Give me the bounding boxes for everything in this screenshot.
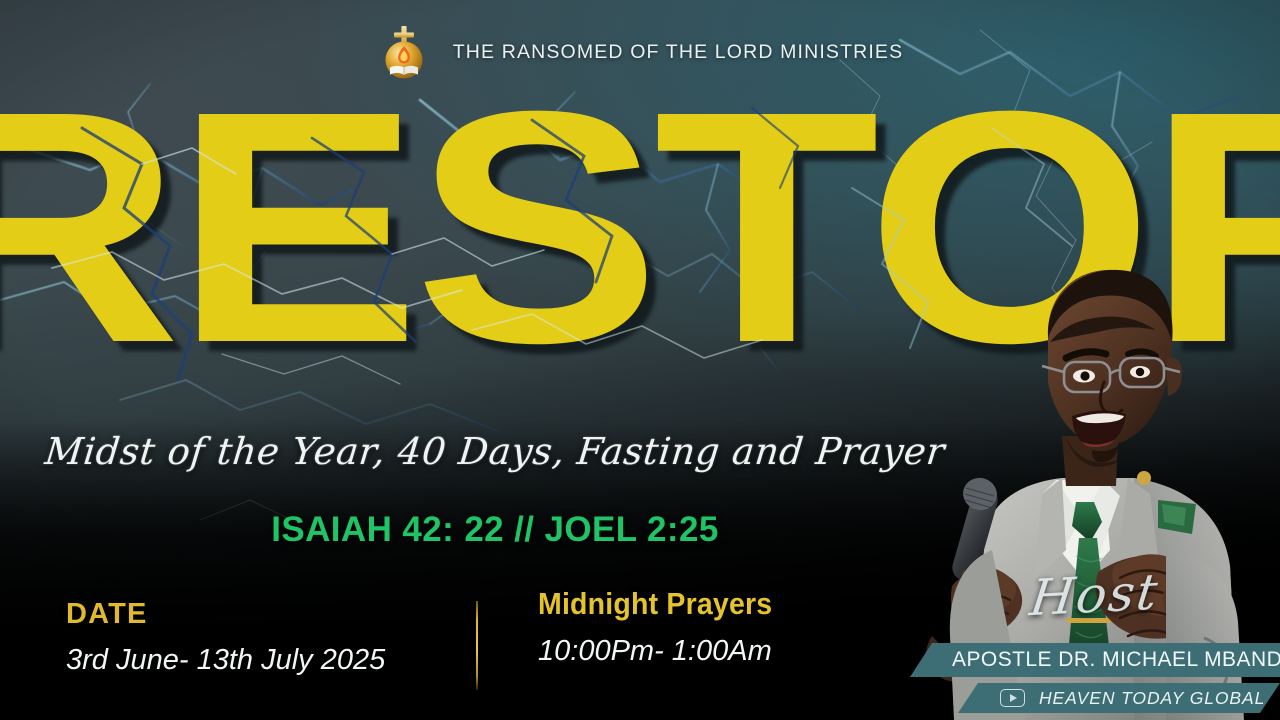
- cross-flame-book-logo-icon: [377, 24, 431, 80]
- host-script-label: Host: [1026, 563, 1162, 628]
- main-title: RESTORE: [0, 68, 1280, 386]
- organization-name: THE RANSOMED OF THE LORD MINISTRIES: [453, 41, 904, 64]
- date-label: DATE: [66, 598, 385, 631]
- time-block: Midnight Prayers 10:00Pm- 1:00Am: [538, 586, 793, 668]
- flyer-header: THE RANSOMED OF THE LORD MINISTRIES: [0, 24, 1280, 80]
- host-name: APOSTLE DR. MICHAEL MBAND: [952, 648, 1280, 672]
- host-channel-banner[interactable]: HEAVEN TODAY GLOBAL: [958, 683, 1280, 713]
- vertical-divider: [476, 601, 478, 690]
- event-subtitle: Midst of the Year, 40 Days, Fasting and …: [0, 430, 1280, 473]
- main-title-block: RESTORE RESTORE: [0, 68, 1280, 398]
- time-value: 10:00Pm- 1:00Am: [538, 635, 793, 668]
- scripture-reference: ISAIAH 42: 22 // JOEL 2:25: [0, 510, 1280, 550]
- event-flyer: THE RANSOMED OF THE LORD MINISTRIES REST…: [0, 0, 1280, 720]
- date-block: DATE 3rd June- 13th July 2025: [66, 598, 385, 677]
- date-value: 3rd June- 13th July 2025: [66, 644, 385, 677]
- host-name-banner: APOSTLE DR. MICHAEL MBAND: [910, 643, 1280, 677]
- host-channel: HEAVEN TODAY GLOBAL: [1039, 688, 1265, 709]
- time-label: Midnight Prayers: [538, 586, 772, 622]
- youtube-play-icon: [1000, 689, 1025, 707]
